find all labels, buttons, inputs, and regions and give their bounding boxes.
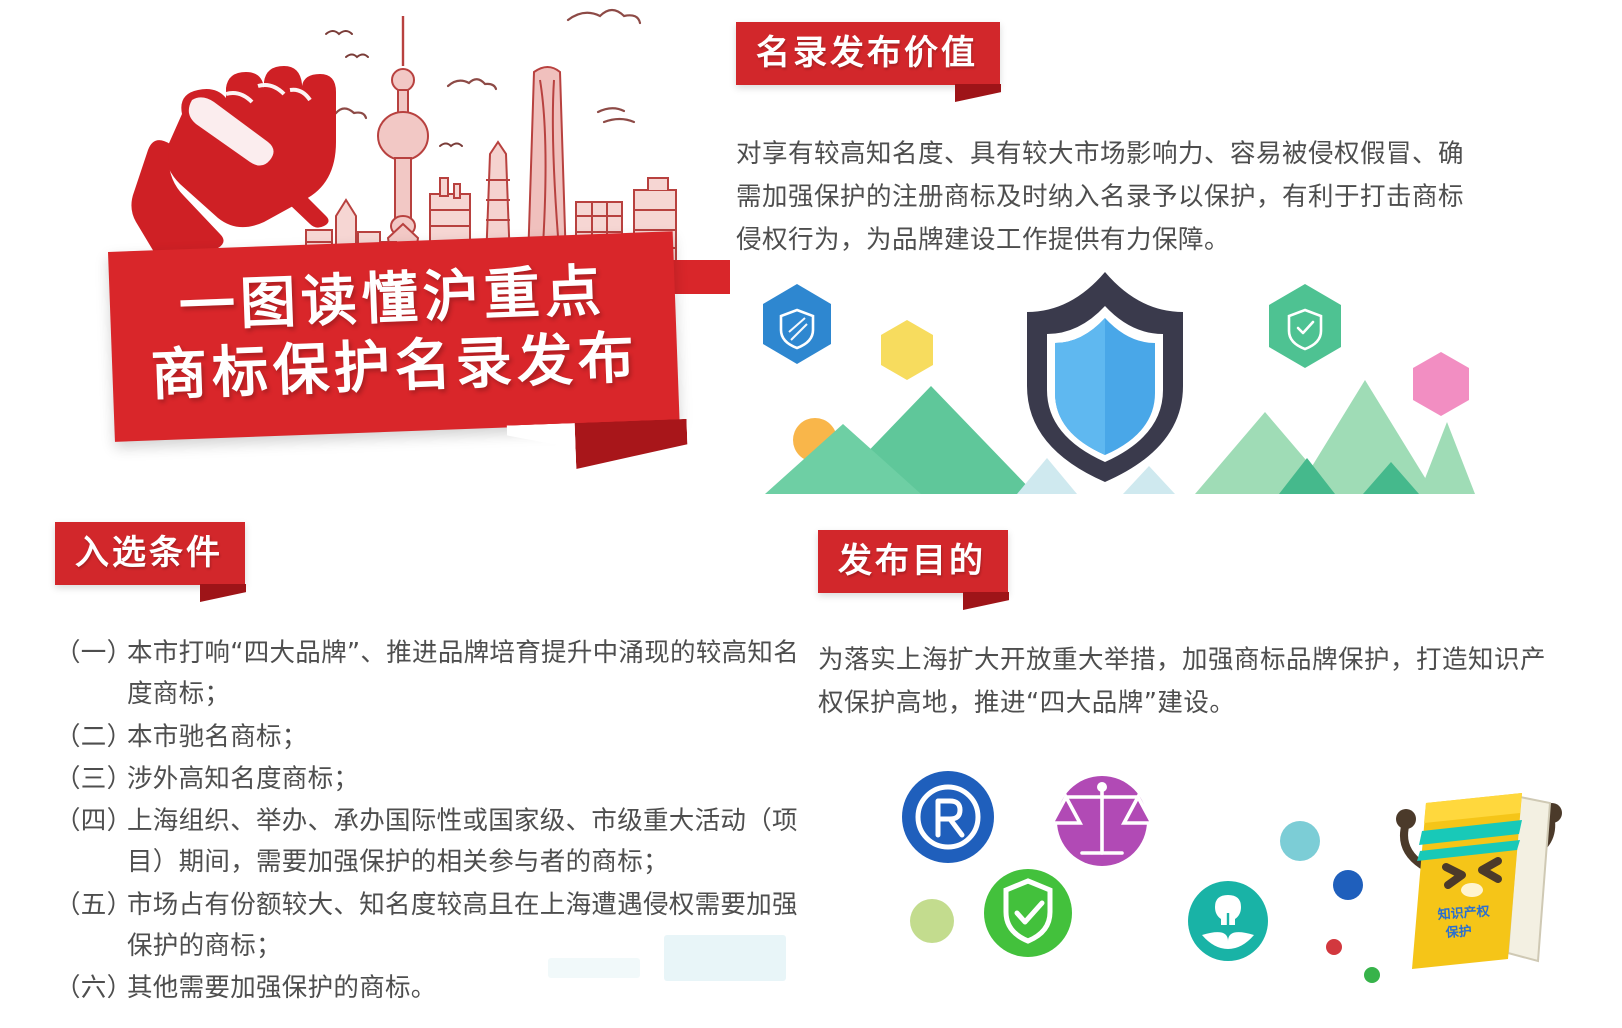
dot-green [1364,967,1380,983]
list-item-marker: （五） [55,885,127,968]
shield-check-icon [984,869,1072,957]
cut-off-shape-left [548,958,640,978]
dot-blue [1333,870,1363,900]
cut-off-shape-right [664,935,786,981]
svg-text:保护: 保护 [1444,923,1472,941]
list-item-text: 上海组织、举办、承办国际性或国家级、市级重大活动（项目）期间，需要加强保护的相关… [127,801,815,884]
registered-trademark-icon [902,771,994,863]
list-item: （四） 上海组织、举办、承办国际性或国家级、市级重大活动（项目）期间，需要加强保… [55,801,815,884]
value-section-heading: 名录发布价值 [736,22,1000,85]
hexagon-yellow [881,320,933,380]
value-section: 名录发布价值 对享有较高知名度、具有较大市场影响力、容易被侵权假冒、确需加强保护… [736,22,1596,261]
hexagon-shield-badge-blue [763,284,831,364]
scales-of-justice-icon [1052,776,1152,866]
list-item-text: 本市驰名商标； [127,717,815,758]
list-item-marker: （三） [55,759,127,800]
hexagon-pink [1413,352,1469,416]
infographic-page: 一图读懂沪重点 商标保护名录发布 名录发布价值 对享有较高知名度、具有较大市场影… [0,0,1622,1028]
big-shield-icon [1027,272,1183,482]
mountain-pale-b [1123,466,1175,494]
page-title: 一图读懂沪重点 商标保护名录发布 [108,231,680,442]
idea-book-icon [1188,881,1268,961]
dot-teal [1280,821,1320,861]
shield-mountains-illustration [735,262,1475,494]
list-item-marker: （二） [55,717,127,758]
hero-section: 一图读懂沪重点 商标保护名录发布 [0,0,730,500]
list-item-text: 涉外高知名度商标； [127,759,815,800]
banner-notch [507,423,578,452]
main-title-banner: 一图读懂沪重点 商标保护名录发布 [108,231,680,442]
list-item: （三） 涉外高知名度商标； [55,759,815,800]
dot-red [1326,939,1342,955]
conditions-section-heading: 入选条件 [55,522,245,585]
mountain-light-right-3 [1419,422,1475,494]
banner-fold [575,419,689,469]
value-section-paragraph: 对享有较高知名度、具有较大市场影响力、容易被侵权假冒、确需加强保护的注册商标及时… [736,133,1466,261]
list-item-marker: （四） [55,801,127,884]
hexagon-shield-check-badge-green [1269,284,1341,368]
purpose-section-paragraph: 为落实上海扩大开放重大举措，加强商标品牌保护，打造知识产权保护高地，推进“四大品… [818,639,1558,725]
cute-book-character: 知识产权 保护 [1396,793,1562,969]
list-item-marker: （六） [55,968,127,1009]
purpose-section-heading: 发布目的 [818,530,1008,593]
ip-icons-and-book-illustration: 知识产权 保护 [860,735,1580,985]
purpose-section: 发布目的 为落实上海扩大开放重大举措，加强商标品牌保护，打造知识产权保护高地，推… [818,530,1578,725]
list-item-text: 本市打响“四大品牌”、推进品牌培育提升中涌现的较高知名度商标； [127,633,815,716]
mountain-pale-a [1017,458,1077,494]
list-item: （二） 本市驰名商标； [55,717,815,758]
list-item-marker: （一） [55,633,127,716]
dot-olive [910,899,954,943]
list-item: （一） 本市打响“四大品牌”、推进品牌培育提升中涌现的较高知名度商标； [55,633,815,716]
